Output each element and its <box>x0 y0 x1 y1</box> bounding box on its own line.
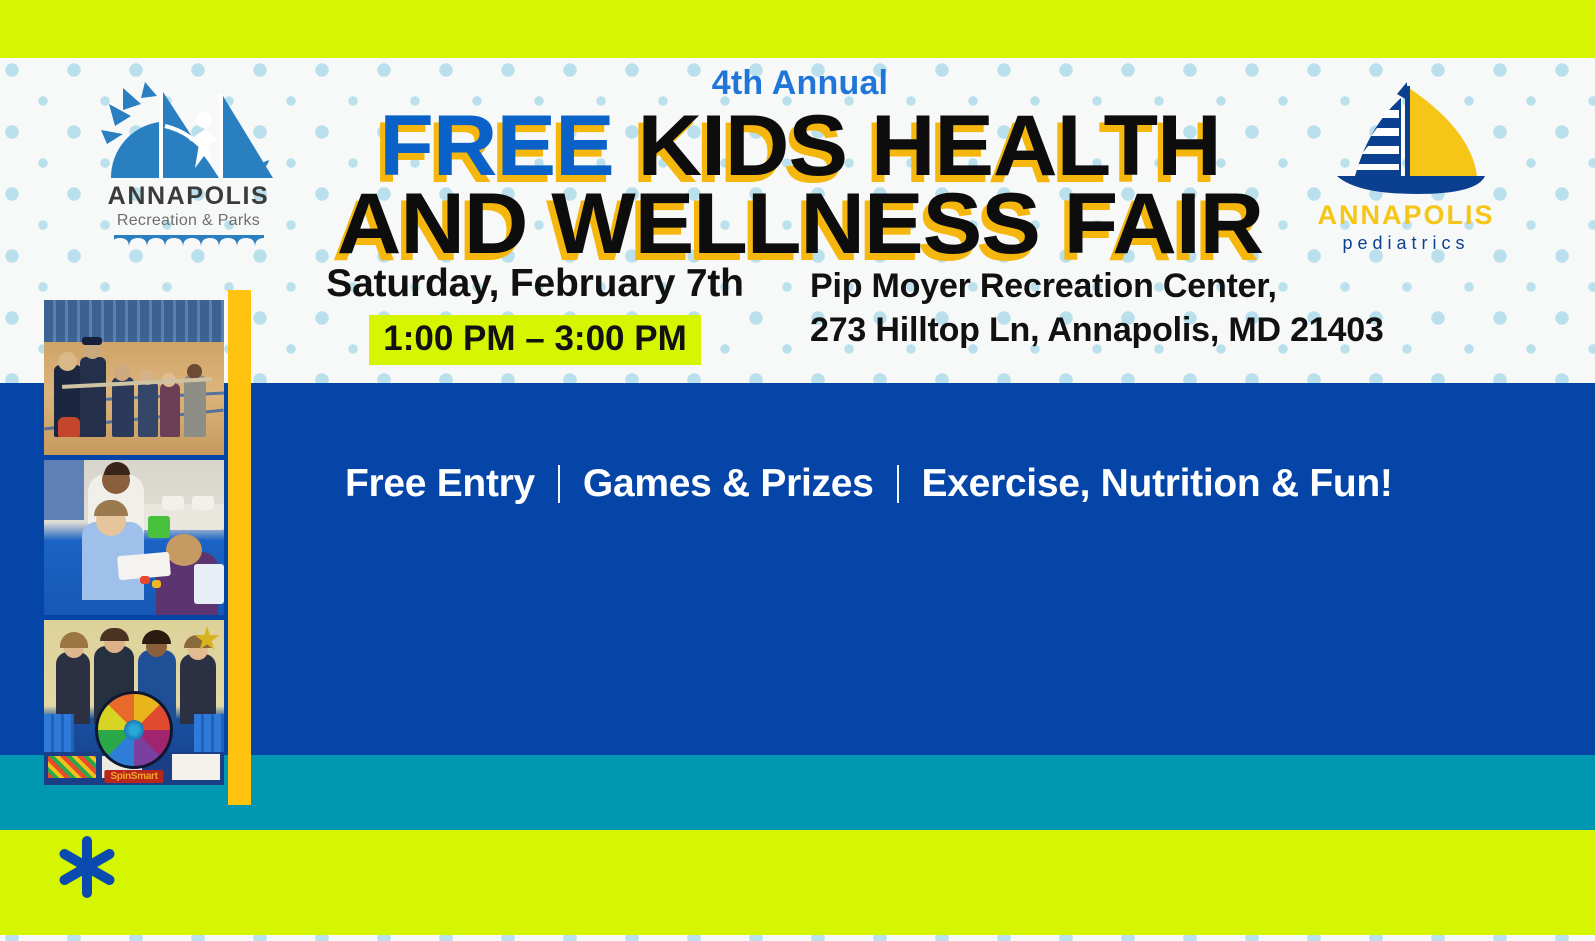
prize-wheel-icon <box>95 691 173 769</box>
venue-column: Pip Moyer Recreation Center, 273 Hilltop… <box>810 262 1390 352</box>
date-time-column: Saturday, February 7th 1:00 PM – 3:00 PM <box>300 262 770 365</box>
photo-craft-table <box>44 460 224 615</box>
rec-parks-name: ANNAPOLIS <box>108 184 270 209</box>
headline-block: 4th Annual FREE KIDS HEALTH AND WELLNESS… <box>300 66 1300 262</box>
photo-strip: SpinSmart <box>44 300 224 785</box>
kicker-text: 4th Annual <box>300 66 1300 102</box>
tagline-separator-2 <box>897 465 899 503</box>
sailboat-sun-logo-icon <box>101 82 276 182</box>
tagline-item-1: Free Entry <box>345 462 535 506</box>
venue-address: 273 Hilltop Ln, Annapolis, MD 21403 <box>810 309 1390 353</box>
annapolis-pediatrics-logo: ANNAPOLIS pediatrics <box>1316 80 1496 260</box>
wave-accent-icon <box>114 233 264 249</box>
prize-wheel-label: SpinSmart <box>104 770 163 783</box>
sailboat-logo-icon <box>1321 80 1491 200</box>
tagline-row: Free Entry Games & Prizes Exercise, Nutr… <box>345 462 1393 506</box>
title-line-2: AND WELLNESS FAIR <box>280 188 1320 262</box>
event-flyer: ANNAPOLIS Recreation & Parks ANNAPOLIS p… <box>0 0 1595 941</box>
bottom-lime-band <box>0 830 1595 935</box>
asterisk-starburst-icon <box>57 836 117 898</box>
annapolis-rec-parks-logo: ANNAPOLIS Recreation & Parks <box>96 82 281 257</box>
tagline-separator-1 <box>558 465 560 503</box>
event-date: Saturday, February 7th <box>300 262 770 306</box>
tagline-item-3: Exercise, Nutrition & Fun! <box>922 462 1393 506</box>
pediatrics-name: ANNAPOLIS <box>1317 202 1494 229</box>
photo-booth-wheel: SpinSmart <box>44 620 224 785</box>
top-lime-band <box>0 0 1595 58</box>
event-details-row: Saturday, February 7th 1:00 PM – 3:00 PM… <box>300 262 1390 365</box>
title-line-1: FREE KIDS HEALTH <box>280 110 1320 184</box>
rec-parks-subtitle: Recreation & Parks <box>117 212 260 230</box>
pediatrics-subtitle: pediatrics <box>1342 233 1469 254</box>
tagline-item-2: Games & Prizes <box>583 462 874 506</box>
venue-name: Pip Moyer Recreation Center, <box>810 265 1390 309</box>
yellow-accent-bar <box>228 290 251 805</box>
photo-tug-of-war <box>44 300 224 455</box>
event-time: 1:00 PM – 3:00 PM <box>369 315 700 365</box>
